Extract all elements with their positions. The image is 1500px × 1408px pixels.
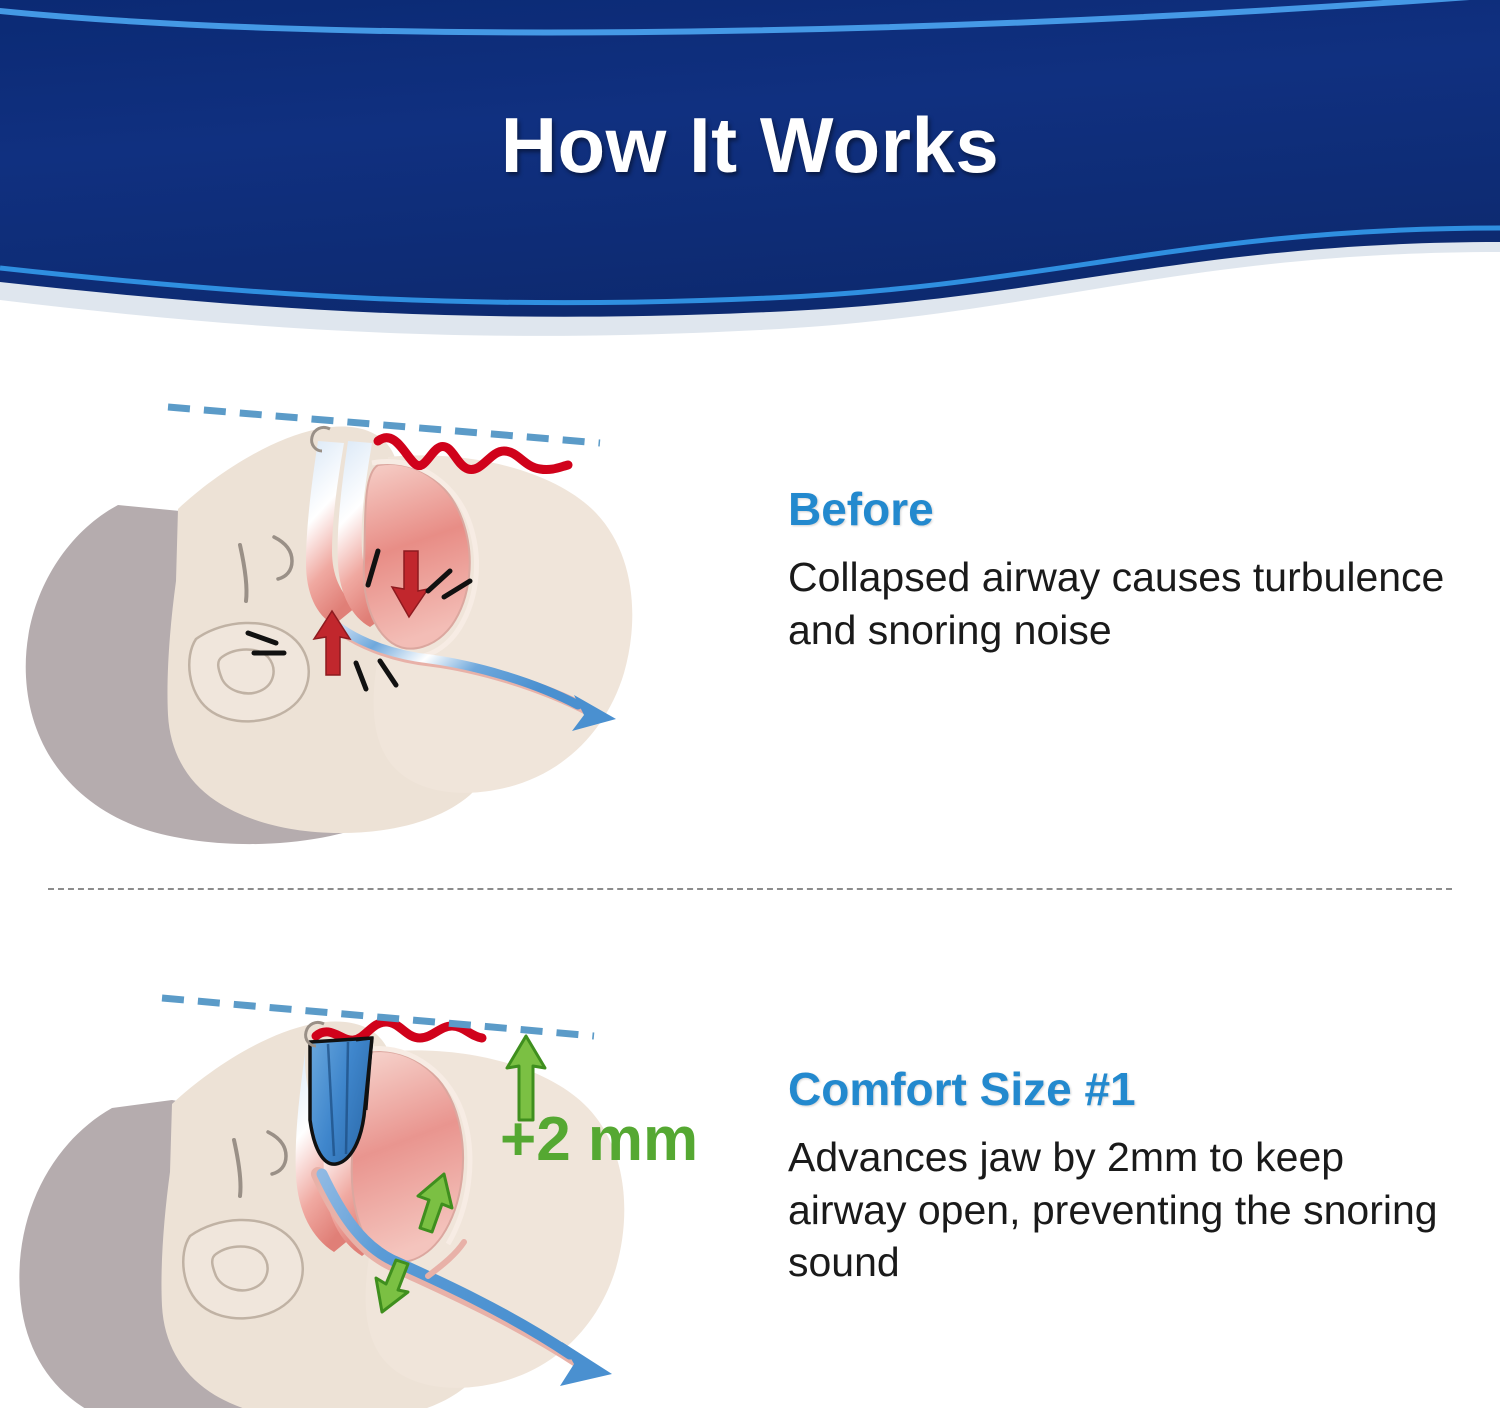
comfort-size-1-text-block: Comfort Size #1 Advances jaw by 2mm to k… <box>770 960 1500 1289</box>
how-it-works-infographic: How It Works <box>0 0 1500 1408</box>
ear-shape <box>189 623 309 721</box>
advance-amount-callout: +2 mm <box>500 1105 698 1174</box>
reference-baseline-dashed <box>162 998 594 1036</box>
before-heading: Before <box>788 485 1460 533</box>
before-text-block: Before Collapsed airway causes turbulenc… <box>770 385 1500 656</box>
collapsed-airway-diagram <box>0 385 700 855</box>
section-before: Before Collapsed airway causes turbulenc… <box>0 385 1500 855</box>
open-airway-with-device-diagram: +2 mm <box>0 960 760 1408</box>
section-divider <box>48 888 1452 890</box>
ear-shape <box>183 1220 303 1318</box>
header-banner: How It Works <box>0 0 1500 345</box>
comfort-size-1-heading: Comfort Size #1 <box>788 1065 1460 1113</box>
before-illustration-container <box>0 385 770 855</box>
before-description: Collapsed airway causes turbulence and s… <box>788 551 1448 656</box>
page-title: How It Works <box>0 100 1500 191</box>
comfort-size-1-description: Advances jaw by 2mm to keep airway open,… <box>788 1131 1448 1288</box>
airflow-arrowhead <box>560 1342 612 1386</box>
after-illustration-container: +2 mm <box>0 960 770 1408</box>
section-comfort-size-1: +2 mm Comfort Size #1 Advances jaw by 2m… <box>0 960 1500 1408</box>
